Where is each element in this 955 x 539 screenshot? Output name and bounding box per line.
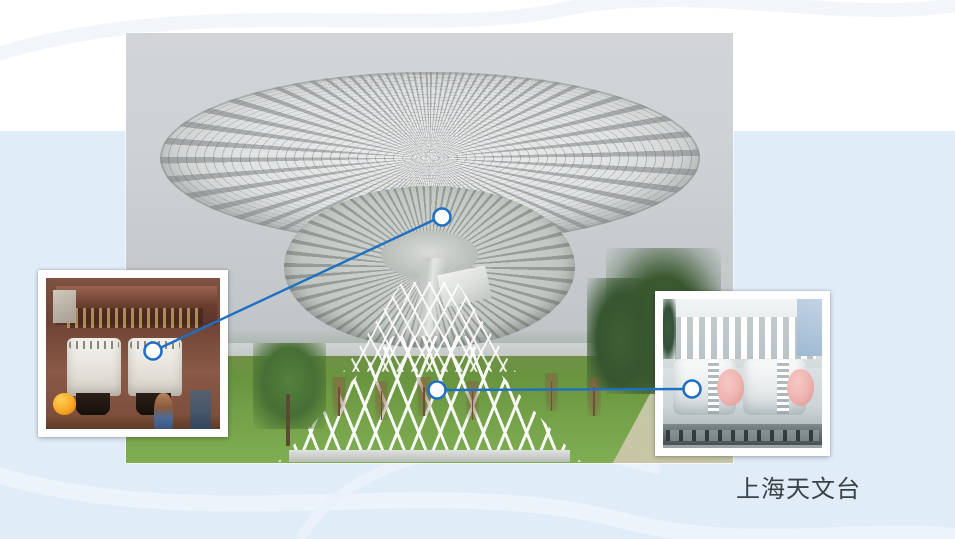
motor-shaft-left: [76, 393, 111, 417]
motor-housing-right: [128, 338, 182, 395]
worker-figure: [154, 393, 173, 429]
orange-helmet: [53, 393, 76, 416]
wall-panel: [53, 290, 76, 323]
tree-center-trunk: [286, 394, 290, 446]
sky-patch: [797, 299, 822, 356]
sapling: [375, 381, 388, 420]
inset-right-image: [663, 299, 822, 448]
motor-housing-left: [67, 338, 121, 395]
pink-end-cap-left: [717, 369, 744, 406]
rail-bolts: [666, 430, 819, 440]
sapling: [417, 377, 430, 416]
tree-center: [253, 343, 326, 429]
inset-right-photo: [655, 291, 830, 456]
inset-left-image: [46, 278, 220, 429]
beam-slots: [67, 308, 203, 328]
inset-left-photo: [38, 270, 228, 437]
tree-edge: [663, 299, 676, 359]
sapling: [545, 373, 558, 412]
worker-figure-secondary: [190, 390, 211, 429]
tree-right-secondary: [587, 278, 654, 390]
structure-ribs: [669, 317, 815, 359]
mount-base: [289, 450, 570, 462]
sapling: [332, 377, 345, 416]
sapling: [466, 381, 479, 420]
slide: 上海天文台: [0, 0, 955, 539]
slide-caption: 上海天文台: [736, 469, 861, 504]
pink-end-cap-right: [787, 369, 814, 406]
sapling: [587, 377, 600, 416]
